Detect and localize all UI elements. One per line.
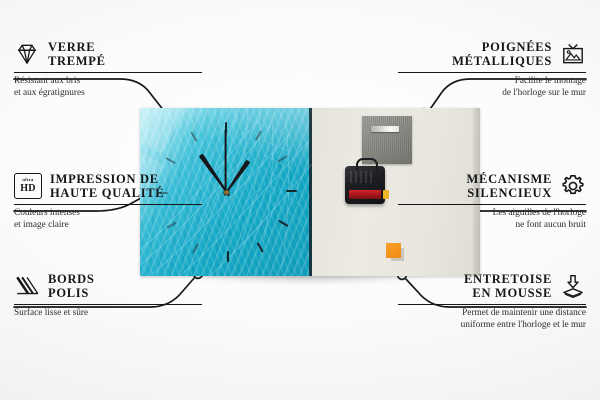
callout-verre-trempe: VERRE TREMPÉ Résistant aux bris et aux é… bbox=[14, 40, 202, 100]
callout-subtitle: Les aiguilles de l'horloge ne font aucun… bbox=[398, 208, 586, 231]
callout-title: MÉCANISME SILENCIEUX bbox=[467, 172, 552, 200]
metal-bracket bbox=[362, 116, 412, 164]
callout-title: POIGNÉES MÉTALLIQUES bbox=[452, 40, 552, 68]
callout-title: BORDS POLIS bbox=[48, 272, 95, 300]
battery bbox=[349, 190, 381, 199]
polished-edges-icon bbox=[14, 273, 40, 299]
callout-subtitle: Facilite le montage de l'horloge sur le … bbox=[398, 76, 586, 99]
callout-rule bbox=[398, 72, 586, 73]
callout-rule bbox=[14, 304, 202, 305]
callout-rule bbox=[14, 204, 202, 205]
clock-mechanism bbox=[345, 166, 385, 204]
bracket-keyhole-slot bbox=[371, 126, 399, 132]
mechanism-detail bbox=[350, 171, 372, 183]
clock-second-hand bbox=[225, 130, 227, 192]
callout-title: VERRE TREMPÉ bbox=[48, 40, 106, 68]
foam-spacer bbox=[386, 243, 401, 258]
callout-subtitle: Permet de maintenir une distance uniform… bbox=[398, 308, 586, 331]
foam-spacer-icon bbox=[560, 273, 586, 299]
mechanism-hanging-loop bbox=[356, 158, 378, 171]
diamond-icon bbox=[14, 41, 40, 67]
callout-mecanisme-silencieux: MÉCANISME SILENCIEUX Les aiguilles de l'… bbox=[398, 172, 586, 232]
callout-rule bbox=[398, 304, 586, 305]
callout-impression-haute-qualite: ultra HD IMPRESSION DE HAUTE QUALITÉ Cou… bbox=[14, 172, 202, 232]
wall-mount-frame-icon bbox=[560, 41, 586, 67]
callout-subtitle: Résistant aux bris et aux égratignures bbox=[14, 76, 202, 99]
ultra-hd-icon-large-text: HD bbox=[20, 184, 36, 194]
callout-rule bbox=[398, 204, 586, 205]
clock-center-hub bbox=[224, 190, 229, 195]
infographic-root: VERRE TREMPÉ Résistant aux bris et aux é… bbox=[0, 0, 600, 400]
callout-subtitle: Couleurs intenses et image claire bbox=[14, 208, 202, 231]
battery-plus-terminal bbox=[383, 190, 389, 199]
gear-icon bbox=[560, 173, 586, 199]
callout-title: ENTRETOISE EN MOUSSE bbox=[464, 272, 552, 300]
callout-rule bbox=[14, 72, 202, 73]
callout-entretoise-en-mousse: ENTRETOISE EN MOUSSE Permet de maintenir… bbox=[398, 272, 586, 332]
callout-subtitle: Surface lisse et sûre bbox=[14, 308, 202, 320]
callout-title: IMPRESSION DE HAUTE QUALITÉ bbox=[50, 172, 164, 200]
ultra-hd-icon: ultra HD bbox=[14, 173, 42, 199]
callout-bords-polis: BORDS POLIS Surface lisse et sûre bbox=[14, 272, 202, 320]
callout-poignees-metalliques: POIGNÉES MÉTALLIQUES Facilite le montage… bbox=[398, 40, 586, 100]
